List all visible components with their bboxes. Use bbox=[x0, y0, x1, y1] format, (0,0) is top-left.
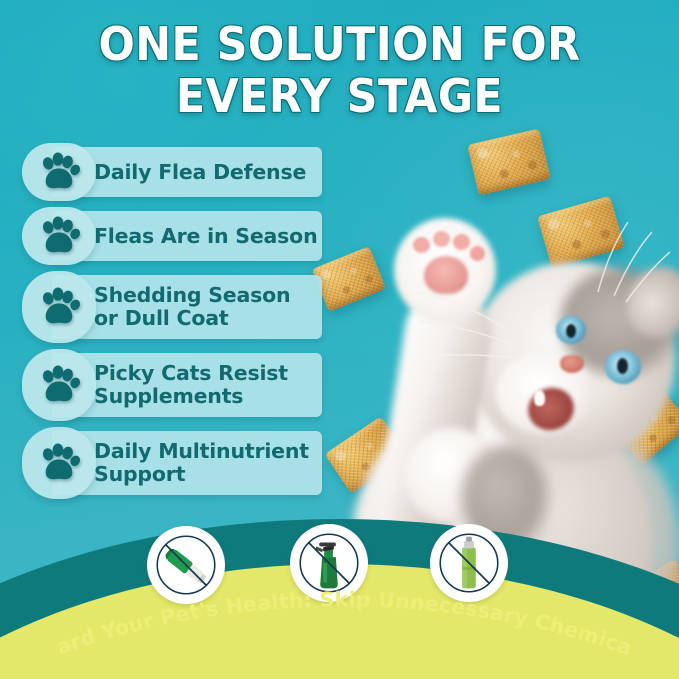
cat-paw-toe-bean bbox=[433, 231, 450, 247]
cat-paw-pad-main bbox=[424, 256, 468, 294]
cat-nose bbox=[560, 355, 584, 373]
paw-icon bbox=[36, 149, 82, 195]
no-spray-bottle-icon[interactable] bbox=[290, 524, 368, 602]
cat-eye-left bbox=[556, 316, 586, 344]
treat-piece bbox=[312, 246, 387, 312]
paw-icon bbox=[36, 440, 82, 486]
feature-label: Daily Flea Defense bbox=[94, 161, 306, 184]
headline-line-2: EVERY STAGE bbox=[24, 70, 655, 122]
paw-icon bbox=[36, 362, 82, 408]
paw-icon bbox=[36, 284, 82, 330]
headline-line-1: ONE SOLUTION FOR bbox=[24, 18, 655, 70]
feature-label: Fleas Are in Season bbox=[94, 225, 317, 248]
feature-item-daily-flea-defense[interactable]: Daily Flea Defense bbox=[22, 143, 322, 201]
paw-icon bbox=[36, 213, 82, 259]
cat-mouth bbox=[523, 382, 580, 436]
feature-label: Shedding Season or Dull Coat bbox=[94, 284, 290, 330]
cat-head-markings bbox=[560, 268, 679, 378]
cat-eye-right bbox=[605, 350, 641, 384]
feature-label: Daily Multinutrient Support bbox=[94, 440, 309, 486]
cat-head bbox=[470, 262, 675, 462]
cat-tooth bbox=[534, 390, 545, 406]
feature-item-shedding-season-or-dull-coat[interactable]: Shedding Season or Dull Coat bbox=[22, 271, 322, 343]
treat-piece bbox=[537, 196, 625, 269]
infographic-canvas: ONE SOLUTION FOR EVERY STAGE bbox=[0, 0, 679, 679]
cat-eye-right-pupil bbox=[617, 358, 628, 374]
feature-item-fleas-are-in-season[interactable]: Fleas Are in Season bbox=[22, 207, 322, 265]
feature-label: Picky Cats Resist Supplements bbox=[94, 362, 288, 408]
cat-paw-toe-bean bbox=[470, 246, 485, 261]
cat-ear bbox=[617, 257, 679, 347]
feature-item-daily-multinutrient-support[interactable]: Daily Multinutrient Support bbox=[22, 427, 322, 499]
cat-paw-raised bbox=[394, 218, 496, 322]
treat-piece bbox=[324, 416, 407, 494]
bottom-banner: Guard Your Pet's Health: Skip Unnecessar… bbox=[0, 504, 679, 679]
no-aerosol-can-icon[interactable] bbox=[430, 524, 508, 602]
cat-paw-toe-bean bbox=[453, 234, 470, 250]
page-title: ONE SOLUTION FOR EVERY STAGE bbox=[0, 18, 679, 122]
no-ointment-tube-icon[interactable] bbox=[147, 526, 225, 604]
treat-piece bbox=[467, 128, 551, 195]
feature-item-picky-cats-resist-supplements[interactable]: Picky Cats Resist Supplements bbox=[22, 349, 322, 421]
cat-muzzle bbox=[496, 352, 592, 434]
cat-paw-toe-bean bbox=[413, 237, 430, 253]
treat-piece bbox=[613, 389, 679, 465]
feature-list: Daily Flea Defense Fleas Are in Season bbox=[22, 143, 322, 505]
cat-eye-left-pupil bbox=[566, 324, 576, 338]
